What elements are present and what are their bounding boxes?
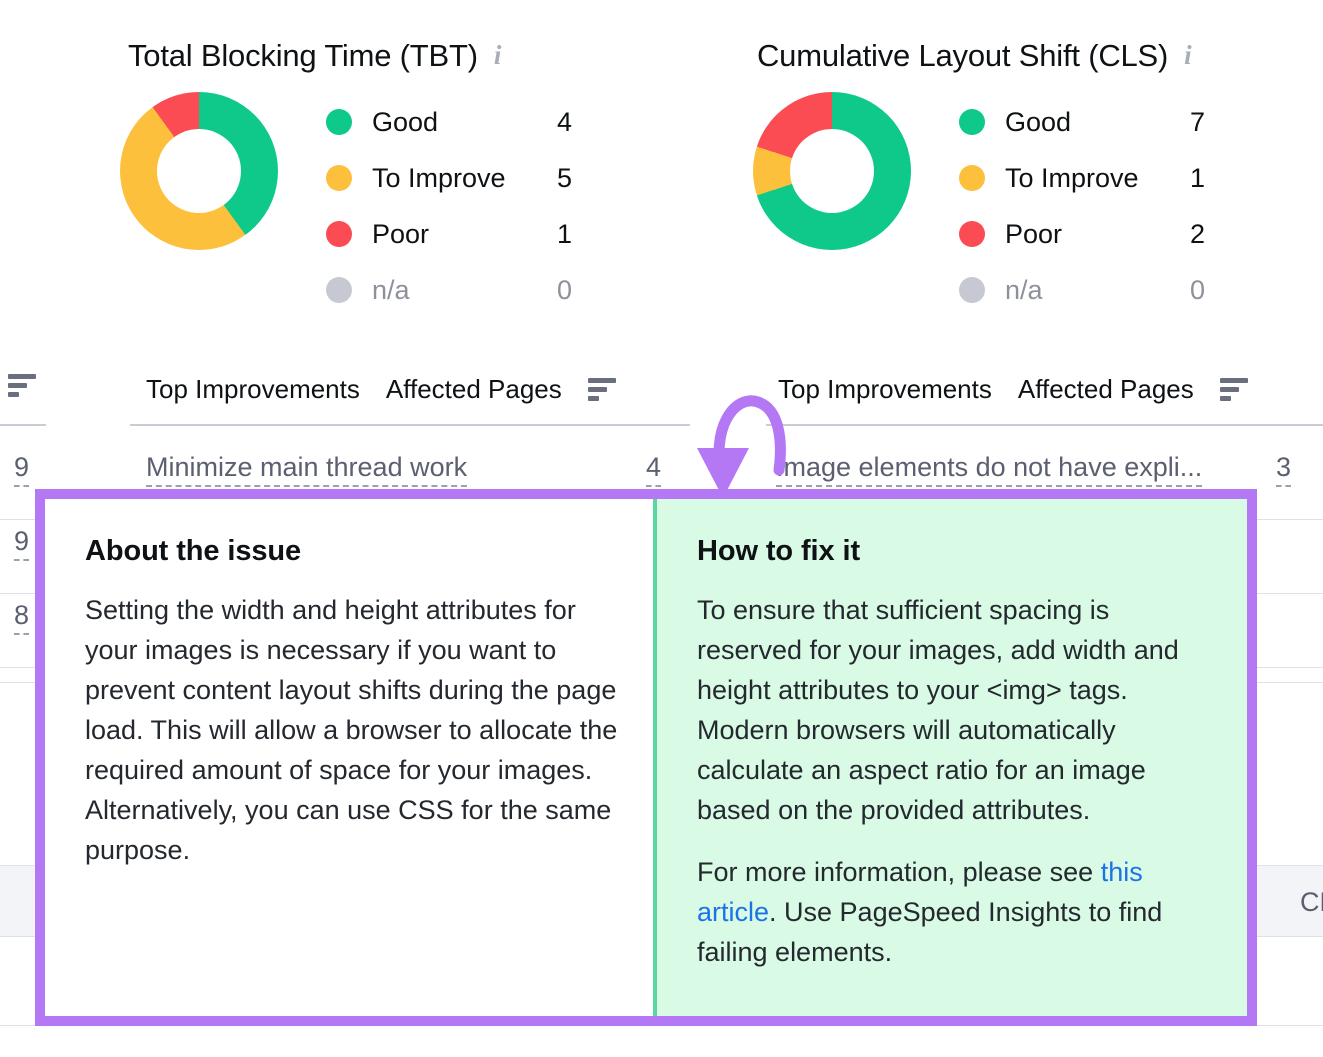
- row-score[interactable]: 9: [14, 527, 29, 561]
- tabs-right: Top Improvements Affected Pages: [690, 360, 1323, 418]
- metric-cards-row: Total Blocking Time (TBT) i Good 4 To Im…: [0, 0, 1323, 360]
- legend-dot-good: [959, 109, 985, 135]
- card-body-tbt: Good 4 To Improve 5 Poor 1 n/a 0: [0, 92, 661, 318]
- tab-affected-pages[interactable]: Affected Pages: [386, 374, 562, 405]
- legend-dot-to-improve: [326, 165, 352, 191]
- more-info-prefix: For more information, please see: [697, 857, 1101, 887]
- card-title-tbt: Total Blocking Time (TBT) i: [0, 38, 661, 74]
- how-to-fix-it-title: How to fix it: [697, 535, 1213, 568]
- page-title-tbt: Total Blocking Time (TBT): [128, 38, 478, 74]
- legend-dot-na: [959, 277, 985, 303]
- legend-dot-to-improve: [959, 165, 985, 191]
- legend-value-to-improve: 5: [532, 163, 572, 194]
- legend-value-good: 4: [532, 107, 572, 138]
- row-issue-link[interactable]: Image elements do not have expli...: [776, 453, 1202, 487]
- legend-label-poor: Poor: [1005, 219, 1062, 250]
- card-body-cls: Good 7 To Improve 1 Poor 2 n/a 0: [661, 92, 1322, 318]
- row-issue-link[interactable]: Minimize main thread work: [146, 453, 467, 487]
- legend-label-poor: Poor: [372, 219, 429, 250]
- legend-row-poor: Poor 2: [959, 206, 1205, 262]
- tab-top-improvements[interactable]: Top Improvements: [146, 374, 360, 405]
- legend-label-to-improve: To Improve: [372, 163, 506, 194]
- legend-tbt: Good 4 To Improve 5 Poor 1 n/a 0: [326, 94, 572, 318]
- legend-dot-good: [326, 109, 352, 135]
- page-title-cls: Cumulative Layout Shift (CLS): [757, 38, 1168, 74]
- legend-label-good: Good: [372, 107, 438, 138]
- header-divider: [766, 424, 1323, 426]
- legend-value-na: 0: [1165, 275, 1205, 306]
- header-divider: [0, 424, 46, 426]
- legend-value-to-improve: 1: [1165, 163, 1205, 194]
- info-icon[interactable]: i: [1184, 42, 1191, 69]
- row-affected-count[interactable]: 3: [1276, 453, 1291, 487]
- info-icon[interactable]: i: [494, 42, 501, 69]
- legend-value-good: 7: [1165, 107, 1205, 138]
- legend-value-poor: 1: [532, 219, 572, 250]
- donut-chart-tbt: [120, 92, 278, 250]
- metric-card-cls: Cumulative Layout Shift (CLS) i Good 7 T…: [661, 0, 1322, 360]
- tab-top-improvements[interactable]: Top Improvements: [778, 374, 992, 405]
- legend-dot-poor: [959, 221, 985, 247]
- how-to-fix-it-pane: How to fix it To ensure that sufficient …: [653, 499, 1247, 1016]
- legend-row-good: Good 4: [326, 94, 572, 150]
- header-divider: [130, 424, 690, 426]
- issue-detail-overlay: About the issue Setting the width and he…: [35, 489, 1257, 1026]
- card-title-cls: Cumulative Layout Shift (CLS) i: [661, 38, 1322, 74]
- legend-row-to-improve: To Improve 5: [326, 150, 572, 206]
- legend-label-na: n/a: [1005, 275, 1043, 306]
- legend-row-na: n/a 0: [326, 262, 572, 318]
- row-affected-count[interactable]: 4: [646, 453, 661, 487]
- legend-row-poor: Poor 1: [326, 206, 572, 262]
- highlighted-row-label: CL: [1300, 887, 1323, 918]
- legend-row-good: Good 7: [959, 94, 1205, 150]
- about-the-issue-title: About the issue: [85, 535, 619, 568]
- row-score[interactable]: 8: [14, 601, 29, 635]
- legend-value-poor: 2: [1165, 219, 1205, 250]
- metric-card-tbt: Total Blocking Time (TBT) i Good 4 To Im…: [0, 0, 661, 360]
- how-to-fix-it-body: To ensure that sufficient spacing is res…: [697, 590, 1213, 830]
- about-the-issue-body: Setting the width and height attributes …: [85, 590, 619, 870]
- donut-chart-cls: [753, 92, 911, 250]
- legend-row-na: n/a 0: [959, 262, 1205, 318]
- legend-label-to-improve: To Improve: [1005, 163, 1139, 194]
- legend-label-na: n/a: [372, 275, 410, 306]
- sort-icon[interactable]: [1220, 378, 1248, 401]
- legend-row-to-improve: To Improve 1: [959, 150, 1205, 206]
- legend-label-good: Good: [1005, 107, 1071, 138]
- legend-value-na: 0: [532, 275, 572, 306]
- legend-dot-na: [326, 277, 352, 303]
- legend-dot-poor: [326, 221, 352, 247]
- sort-icon[interactable]: [588, 378, 616, 401]
- about-the-issue-pane: About the issue Setting the width and he…: [45, 499, 653, 1016]
- tabs-left: Top Improvements Affected Pages: [0, 360, 690, 418]
- legend-cls: Good 7 To Improve 1 Poor 2 n/a 0: [959, 94, 1205, 318]
- row-score[interactable]: 9: [14, 453, 29, 487]
- tab-affected-pages[interactable]: Affected Pages: [1018, 374, 1194, 405]
- how-to-fix-it-more-info: For more information, please see this ar…: [697, 852, 1213, 972]
